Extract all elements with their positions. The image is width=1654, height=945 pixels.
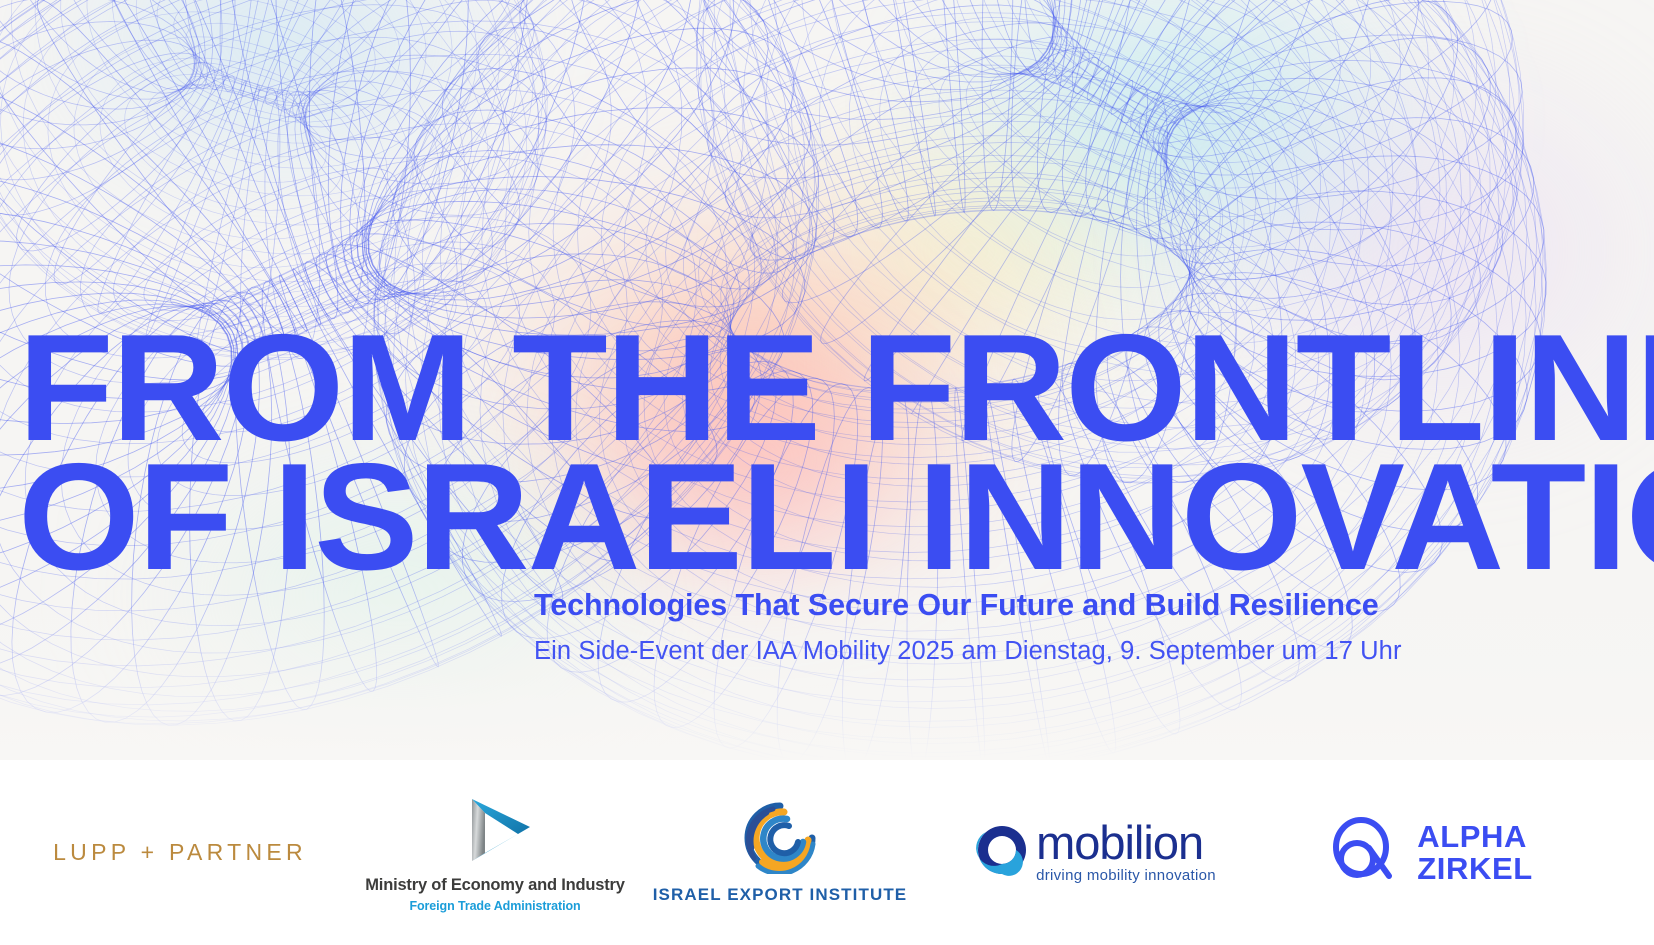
logo-ministry-of-economy[interactable]: Ministry of Economy and Industry Foreign…	[360, 760, 630, 945]
logo-lupp-partner[interactable]: LUPP + PARTNER	[0, 760, 360, 945]
logo-ministry-name: Ministry of Economy and Industry	[365, 876, 624, 895]
logo-lupp-partner-text: LUPP + PARTNER	[53, 839, 307, 866]
logo-mobilion-tagline: driving mobility innovation	[1036, 867, 1216, 884]
logo-israel-export-institute[interactable]: ISRAEL EXPORT INSTITUTE	[630, 760, 930, 945]
subtitle: Technologies That Secure Our Future and …	[534, 588, 1379, 623]
hero-copy: FROM THE FRONTLINE OF ISRAELI INNOVATION…	[0, 0, 1654, 760]
globe-swirl-icon	[740, 800, 820, 879]
logo-alpha-zirkel[interactable]: ALPHA ZIRKEL	[1260, 760, 1600, 945]
logo-ministry-subtitle: Foreign Trade Administration	[409, 899, 580, 913]
logo-israel-export-institute-text: ISRAEL EXPORT INSTITUTE	[653, 885, 908, 905]
ribbon-triangle-icon	[452, 793, 538, 872]
logo-mobilion[interactable]: mobilion driving mobility innovation	[930, 760, 1260, 945]
alpha-circle-icon	[1327, 814, 1403, 891]
logo-alpha-zirkel-line-2: ZIRKEL	[1417, 853, 1533, 885]
headline-line-2: OF ISRAELI INNOVATION	[18, 441, 1654, 593]
event-details: Ein Side-Event der IAA Mobility 2025 am …	[534, 637, 1402, 666]
logo-alpha-zirkel-line-1: ALPHA	[1417, 821, 1533, 853]
partner-logo-bar: LUPP + PARTNER	[0, 760, 1654, 945]
event-banner: FROM THE FRONTLINE OF ISRAELI INNOVATION…	[0, 0, 1654, 945]
logo-mobilion-wordmark: mobilion	[1036, 821, 1203, 866]
spiral-o-icon	[974, 822, 1030, 883]
